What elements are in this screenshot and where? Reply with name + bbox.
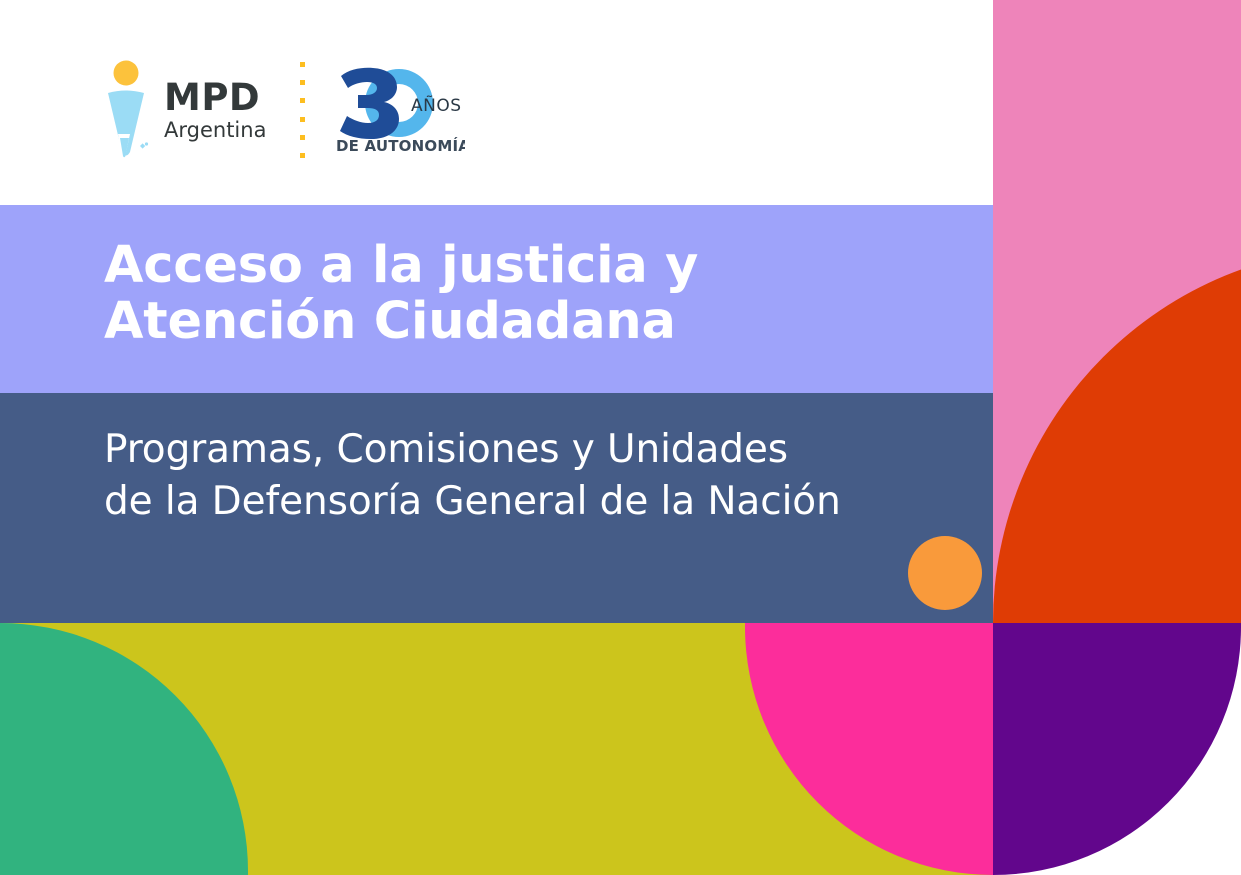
page-title: Acceso a la justicia y Atención Ciudadan… [104, 238, 924, 350]
page-subtitle: Programas, Comisiones y Unidades de la D… [104, 424, 934, 528]
slide-canvas: MPD Argentina [0, 0, 1241, 875]
divider-dot [300, 135, 305, 140]
logo-lockup: MPD Argentina [100, 55, 465, 165]
mpd-country-text: Argentina [164, 120, 266, 141]
subtitle-line-1: Programas, Comisiones y Unidades [104, 424, 934, 476]
title-line-2: Atención Ciudadana [104, 294, 924, 350]
mpd-name-text: MPD [164, 79, 266, 116]
person-figure-icon [100, 60, 152, 160]
anniversary-logo: AÑOS DE AUTONOMÍA [333, 67, 465, 153]
mpd-logo: MPD Argentina [100, 60, 266, 160]
divider-dot [300, 98, 305, 103]
orange-accent-dot [908, 536, 982, 610]
purple-rounded-block [993, 623, 1241, 875]
svg-text:DE AUTONOMÍA: DE AUTONOMÍA [336, 136, 465, 153]
page-header: MPD Argentina [0, 0, 993, 205]
divider-dot [300, 62, 305, 67]
anniversary-30-years-icon: AÑOS DE AUTONOMÍA [333, 67, 465, 153]
right-decoration-column [993, 0, 1241, 623]
divider-dot [300, 153, 305, 158]
title-line-1: Acceso a la justicia y [104, 238, 924, 294]
dotted-divider-icon [300, 62, 305, 159]
divider-dot [300, 117, 305, 122]
svg-text:AÑOS: AÑOS [411, 94, 462, 116]
divider-dot [300, 80, 305, 85]
subtitle-line-2: de la Defensoría General de la Nación [104, 476, 934, 528]
mpd-wordmark: MPD Argentina [164, 79, 266, 141]
